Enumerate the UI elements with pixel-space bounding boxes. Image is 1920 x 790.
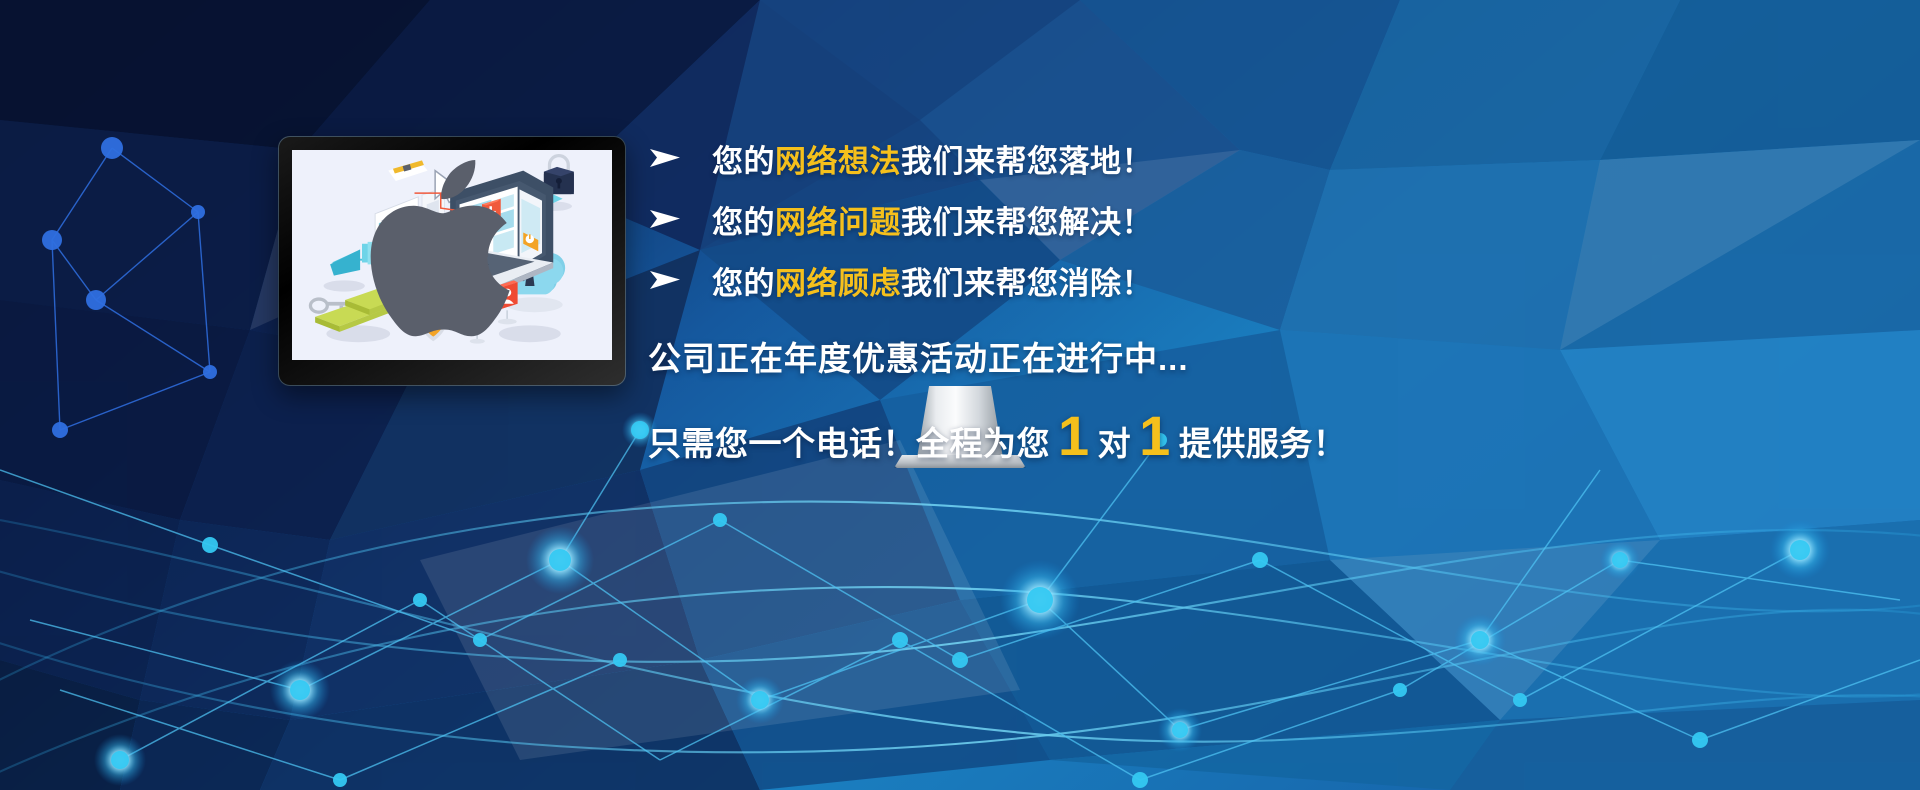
bullet-highlight: 网络问题: [775, 205, 901, 240]
cta-number-2: 1: [1131, 416, 1179, 455]
bullet-suffix: 我们来帮您消除！: [901, 266, 1153, 301]
bullet-highlight: 网络顾虑: [775, 266, 901, 301]
bullet-text-1: 您的网络想法我们来帮您落地！: [712, 136, 1153, 181]
bullet-highlight: 网络想法: [775, 144, 901, 179]
arrow-bullet-icon: [648, 269, 682, 291]
bullet-prefix: 您的: [712, 144, 775, 179]
bullet-text-2: 您的网络问题我们来帮您解决！: [712, 197, 1153, 242]
arrow-bullet-icon: [648, 208, 682, 230]
cta-number-1: 1: [1050, 416, 1098, 455]
apple-logo-icon: [292, 150, 612, 355]
cta-part1: 只需您一个电话！全程为您: [648, 417, 1050, 465]
arrow-bullet-icon: [648, 147, 682, 169]
imac-monitor: [278, 136, 626, 386]
list-item: 您的网络顾虑我们来帮您消除！: [648, 250, 1798, 310]
banner-copy: 您的网络想法我们来帮您落地！ 您的网络问题我们来帮您解决！ 您的网络顾虑我们来帮…: [648, 128, 1798, 465]
bullet-prefix: 您的: [712, 205, 775, 240]
bullet-suffix: 我们来帮您落地！: [901, 144, 1153, 179]
monitor-screen: [292, 150, 612, 360]
promo-line: 公司正在年度优惠活动正在进行中...: [648, 332, 1798, 380]
cta-line: 只需您一个电话！全程为您 1 对 1 提供服务！: [648, 416, 1798, 465]
cta-middle: 对: [1098, 417, 1132, 465]
cta-part2: 提供服务！: [1179, 417, 1347, 465]
bullet-suffix: 我们来帮您解决！: [901, 205, 1153, 240]
list-item: 您的网络想法我们来帮您落地！: [648, 128, 1798, 188]
bullet-text-3: 您的网络顾虑我们来帮您消除！: [712, 258, 1153, 303]
list-item: 您的网络问题我们来帮您解决！: [648, 189, 1798, 249]
bullet-prefix: 您的: [712, 266, 775, 301]
promotional-banner: 您的网络想法我们来帮您落地！ 您的网络问题我们来帮您解决！ 您的网络顾虑我们来帮…: [0, 0, 1920, 790]
